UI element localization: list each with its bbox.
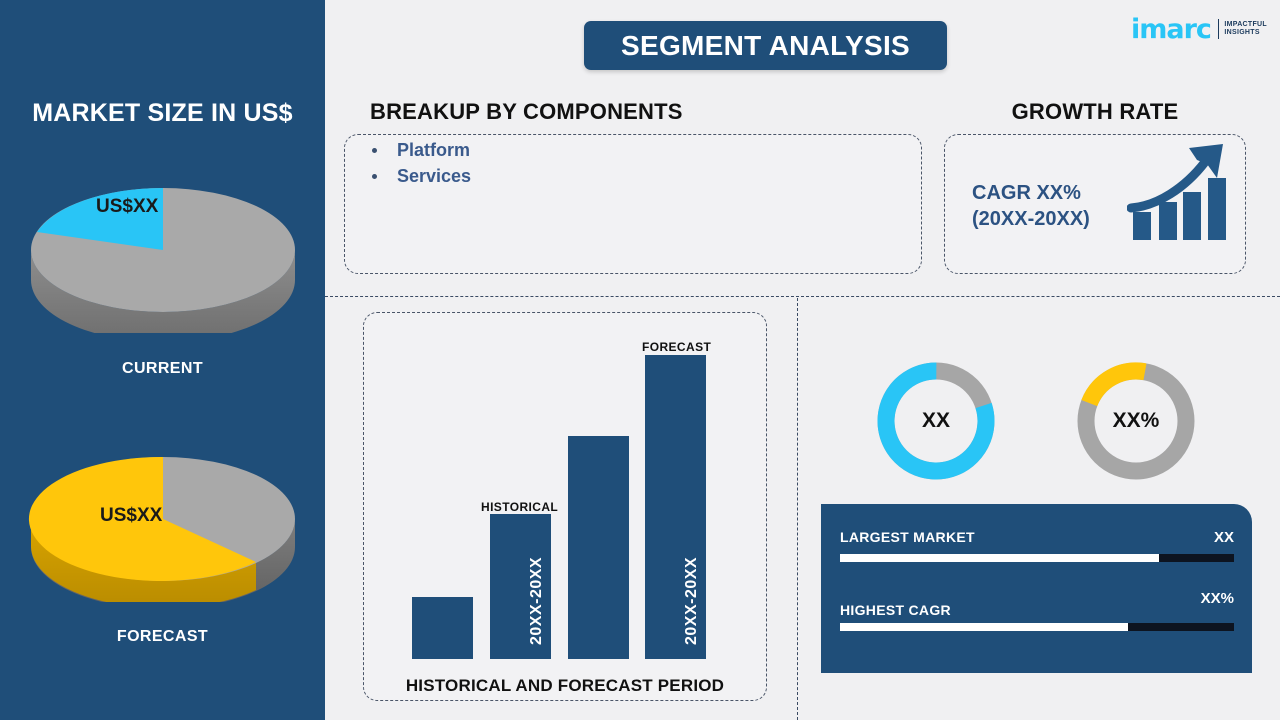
logo-tagline-line1: IMPACTFUL [1224,21,1267,29]
bar-period-label: 20XX-20XX [683,557,701,645]
logo-tagline: IMPACTFUL INSIGHTS [1224,21,1267,37]
stat-progress-fill [840,554,1159,562]
forecast-pie-caption: FORECAST [0,628,325,646]
list-item[interactable]: Services [372,166,471,187]
current-market-size-pie [28,168,298,333]
stat-row: HIGHEST CAGR XX% [840,598,1234,631]
donut-value: XX [922,409,950,433]
cagr-donut: XX% [1076,361,1196,481]
page-title: SEGMENT ANALYSIS [621,30,910,62]
chart-caption: HISTORICAL AND FORECAST PERIOD [363,676,767,696]
market-stats-panel: LARGEST MARKET XX HIGHEST CAGR XX% [821,504,1252,673]
horizontal-divider [325,296,1280,297]
component-label: Services [397,166,471,187]
stat-header: LARGEST MARKET XX [840,529,1234,551]
stat-label: HIGHEST CAGR [840,602,951,618]
forecast-market-size-pie [28,437,298,602]
donut-center: XX [896,381,976,461]
cagr-value: CAGR XX% [972,180,1142,206]
market-size-sidebar: MARKET SIZE IN US$ US$XX CURRENT [0,0,325,720]
growth-rate-heading: GROWTH RATE [944,99,1246,125]
donut-value: XX% [1113,409,1160,433]
bullet-icon [372,148,377,153]
vertical-divider [797,298,798,720]
bar-period-label: 20XX-20XX [528,557,546,645]
cagr-period: (20XX-20XX) [972,206,1142,232]
historical-annotation: HISTORICAL [481,500,558,514]
stat-progress-track [840,554,1234,562]
list-item[interactable]: Platform [372,140,471,161]
market-donut: XX [876,361,996,481]
page-title-badge: SEGMENT ANALYSIS [584,21,947,70]
components-list: Platform Services [372,140,471,192]
infographic-page: MARKET SIZE IN US$ US$XX CURRENT [0,0,1280,720]
component-label: Platform [397,140,470,161]
imarc-logo: imarc IMPACTFUL INSIGHTS [1131,14,1267,44]
stat-label: LARGEST MARKET [840,529,975,545]
chart-bar [412,597,473,659]
stat-header: HIGHEST CAGR XX% [840,598,1234,620]
stat-value: XX [1214,529,1234,546]
components-heading: BREAKUP BY COMPONENTS [370,99,683,125]
logo-tagline-line2: INSIGHTS [1224,29,1267,37]
chart-bar [568,436,629,659]
sidebar-title: MARKET SIZE IN US$ [0,99,325,128]
growth-bar-arrow-icon [1127,140,1232,246]
donut-center: XX% [1096,381,1176,461]
imarc-wordmark: imarc [1131,16,1211,43]
stat-progress-track [840,623,1234,631]
bullet-icon [372,174,377,179]
forecast-annotation: FORECAST [642,340,711,354]
stat-row: LARGEST MARKET XX [840,529,1234,562]
stat-progress-fill [840,623,1128,631]
cagr-text: CAGR XX% (20XX-20XX) [972,180,1142,233]
stat-value: XX% [1201,590,1234,607]
current-pie-caption: CURRENT [0,360,325,378]
